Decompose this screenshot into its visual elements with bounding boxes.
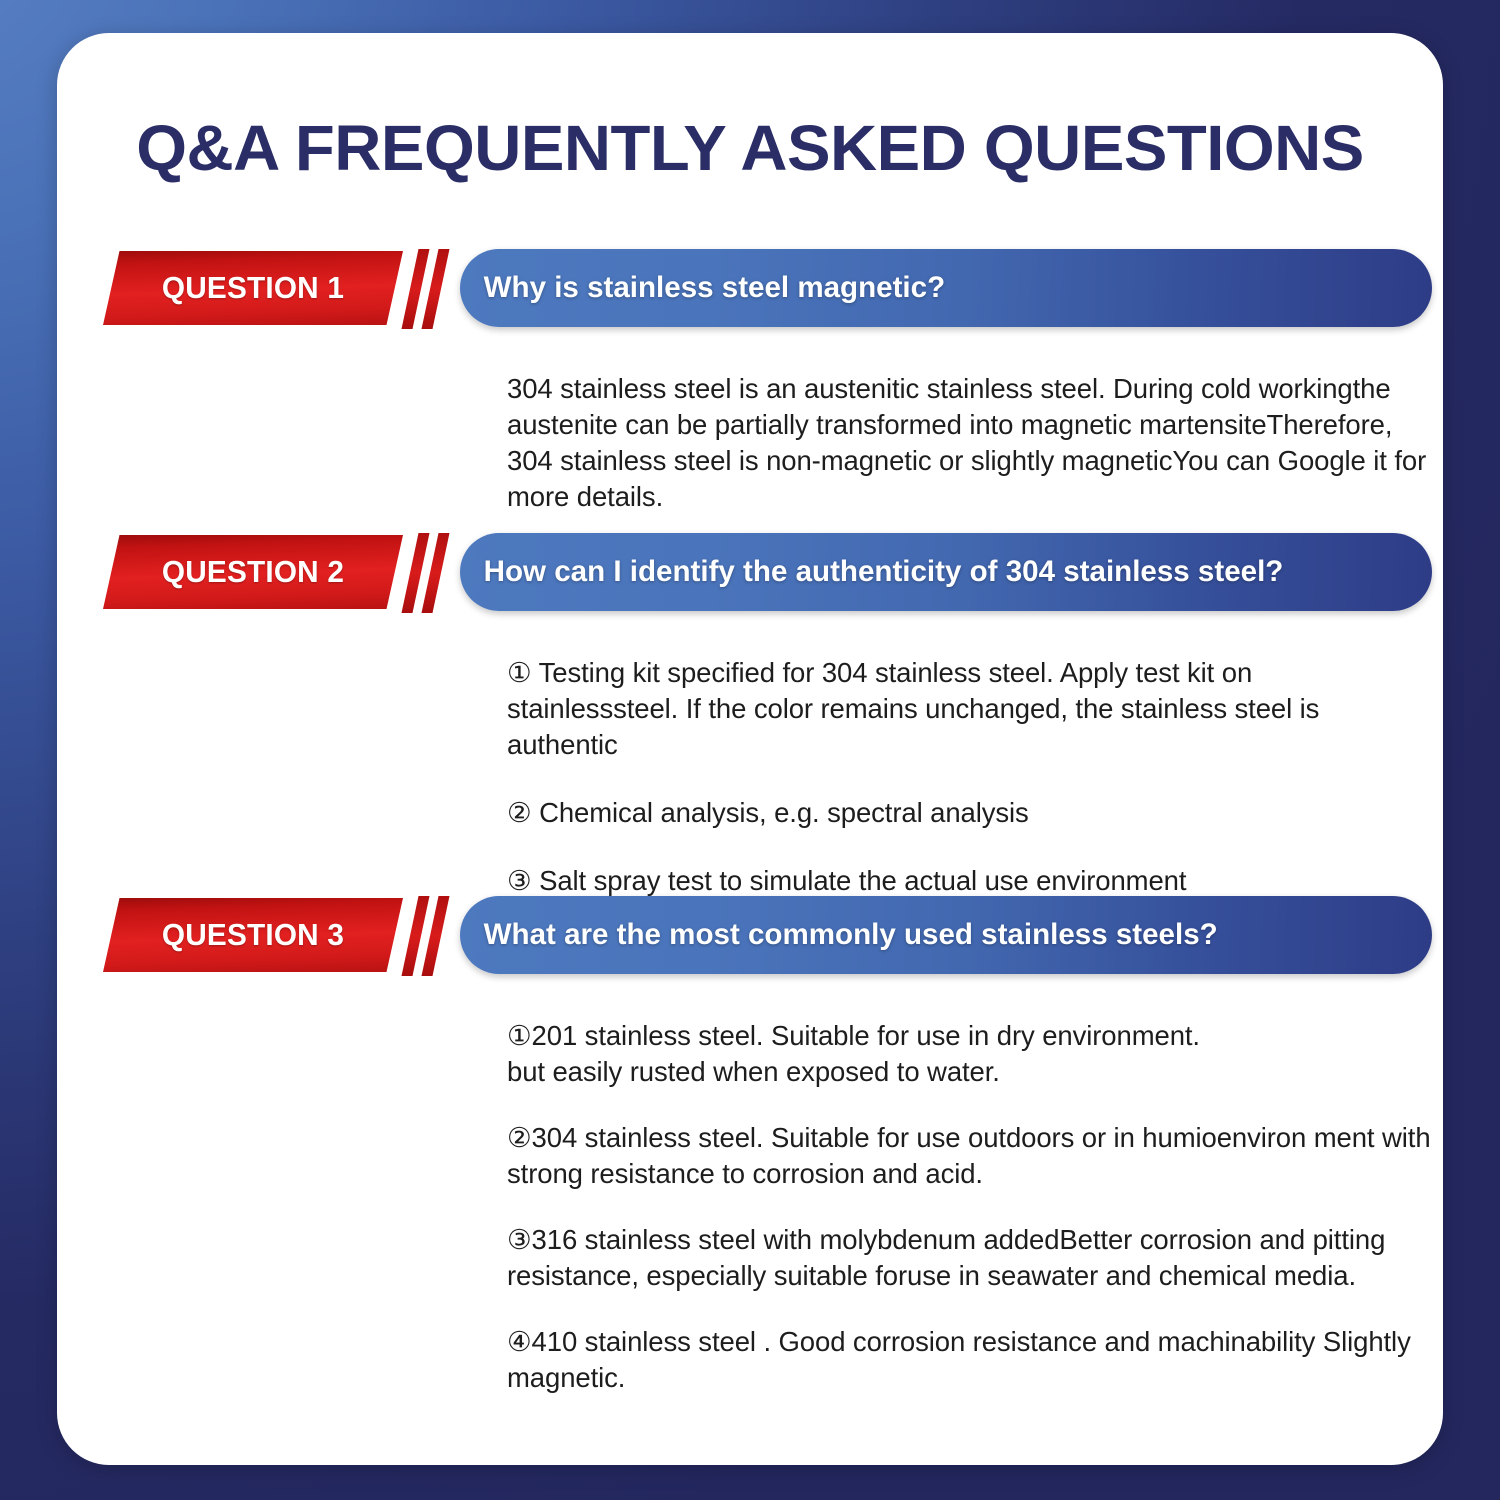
question-header-3: QUESTION 3 What are the most commonly us… <box>57 896 1443 974</box>
faq-card: Q&A FREQUENTLY ASKED QUESTIONS QUESTION … <box>57 33 1443 1465</box>
answer-paragraph: ①201 stainless steel. Suitable for use i… <box>507 1018 1432 1090</box>
answer-body-1: 304 stainless steel is an austenitic sta… <box>507 371 1427 515</box>
answer-paragraph: ②304 stainless steel. Suitable for use o… <box>507 1120 1432 1192</box>
question-tag-label-2: QUESTION 2 <box>109 535 397 609</box>
question-block-2: QUESTION 2 How can I identify the authen… <box>57 533 1443 611</box>
question-block-3: QUESTION 3 What are the most commonly us… <box>57 896 1443 974</box>
answer-paragraph: ① Testing kit specified for 304 stainles… <box>507 655 1387 763</box>
page-title: Q&A FREQUENTLY ASKED QUESTIONS <box>57 111 1443 185</box>
answer-paragraph: 304 stainless steel is an austenitic sta… <box>507 371 1427 515</box>
question-text-2: How can I identify the authenticity of 3… <box>460 533 1417 611</box>
question-header-1: QUESTION 1 Why is stainless steel magnet… <box>57 249 1443 327</box>
question-text-1: Why is stainless steel magnetic? <box>460 249 1417 327</box>
question-block-1: QUESTION 1 Why is stainless steel magnet… <box>57 249 1443 327</box>
question-tag-label-3: QUESTION 3 <box>109 898 397 972</box>
answer-paragraph: ③316 stainless steel with molybdenum add… <box>507 1222 1432 1294</box>
answer-body-3: ①201 stainless steel. Suitable for use i… <box>507 1018 1432 1396</box>
question-header-2: QUESTION 2 How can I identify the authen… <box>57 533 1443 611</box>
answer-paragraph: ④410 stainless steel . Good corrosion re… <box>507 1324 1432 1396</box>
answer-paragraph: ② Chemical analysis, e.g. spectral analy… <box>507 795 1387 831</box>
answer-paragraph: ③ Salt spray test to simulate the actual… <box>507 863 1387 899</box>
question-tag-label-1: QUESTION 1 <box>109 251 397 325</box>
question-text-3: What are the most commonly used stainles… <box>460 896 1417 974</box>
answer-body-2: ① Testing kit specified for 304 stainles… <box>507 655 1387 899</box>
